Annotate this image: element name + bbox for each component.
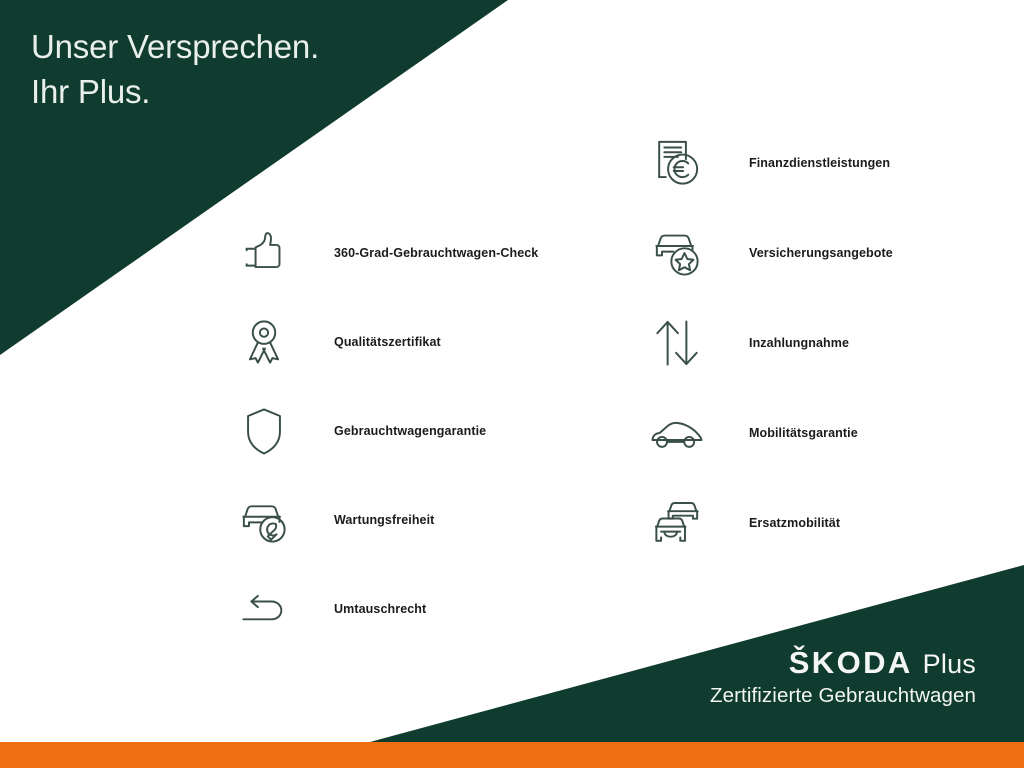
car-star-icon xyxy=(645,221,709,285)
benefit-label: Gebrauchtwagengarantie xyxy=(334,424,486,438)
thumbs-up-icon xyxy=(232,221,296,285)
car-side-icon xyxy=(645,401,709,465)
award-rosette-icon xyxy=(232,310,296,374)
orange-footer-bar xyxy=(0,742,1024,768)
shield-icon xyxy=(232,399,296,463)
benefit-label: Finanzdienstleistungen xyxy=(749,156,890,170)
benefit-label: Mobilitätsgarantie xyxy=(749,426,858,440)
benefit-item-finanzdienstleistungen[interactable]: Finanzdienstleistungen xyxy=(645,118,893,208)
page-title: Unser Versprechen. Ihr Plus. xyxy=(31,24,461,114)
promo-slide: Unser Versprechen. Ihr Plus. 360-Grad-Ge… xyxy=(0,0,1024,768)
up-down-arrows-icon xyxy=(645,311,709,375)
benefit-label: Ersatzmobilität xyxy=(749,516,840,530)
benefit-list-left: 360-Grad-Gebrauchtwagen-Check Qualitätsz… xyxy=(232,208,538,653)
benefit-item-umtauschrecht[interactable]: Umtauschrecht xyxy=(232,564,538,653)
benefit-item-mobilitaetsgarantie[interactable]: Mobilitätsgarantie xyxy=(645,388,893,478)
benefit-label: Inzahlungnahme xyxy=(749,336,849,350)
benefit-label: Wartungsfreiheit xyxy=(334,513,434,527)
benefit-item-ersatzmobilitaet[interactable]: Ersatzmobilität xyxy=(645,478,893,568)
benefit-label: Umtauschrecht xyxy=(334,602,426,616)
benefit-label: Versicherungsangebote xyxy=(749,246,893,260)
benefit-item-gebrauchtwagengarantie[interactable]: Gebrauchtwagengarantie xyxy=(232,386,538,475)
benefit-item-inzahlungnahme[interactable]: Inzahlungnahme xyxy=(645,298,893,388)
brand-suffix: Plus xyxy=(923,651,976,678)
car-wrench-icon xyxy=(232,488,296,552)
brand-wordmark: ŠKODA xyxy=(789,647,913,678)
return-arrow-icon xyxy=(232,577,296,641)
brand-name-row: ŠKODA Plus xyxy=(710,647,976,678)
benefit-list-right: Finanzdienstleistungen Versicherungsange… xyxy=(645,118,893,568)
benefit-item-360-grad-gebrauchtwagen-check[interactable]: 360-Grad-Gebrauchtwagen-Check xyxy=(232,208,538,297)
document-euro-icon xyxy=(645,131,709,195)
benefit-item-qualitaetszertifikat[interactable]: Qualitätszertifikat xyxy=(232,297,538,386)
benefit-label: 360-Grad-Gebrauchtwagen-Check xyxy=(334,246,538,260)
benefit-label: Qualitätszertifikat xyxy=(334,335,441,349)
benefit-item-versicherungsangebote[interactable]: Versicherungsangebote xyxy=(645,208,893,298)
brand-tagline: Zertifizierte Gebrauchtwagen xyxy=(710,685,976,708)
two-cars-icon xyxy=(645,491,709,555)
brand-lockup: ŠKODA Plus Zertifizierte Gebrauchtwagen xyxy=(710,647,976,708)
benefit-item-wartungsfreiheit[interactable]: Wartungsfreiheit xyxy=(232,475,538,564)
